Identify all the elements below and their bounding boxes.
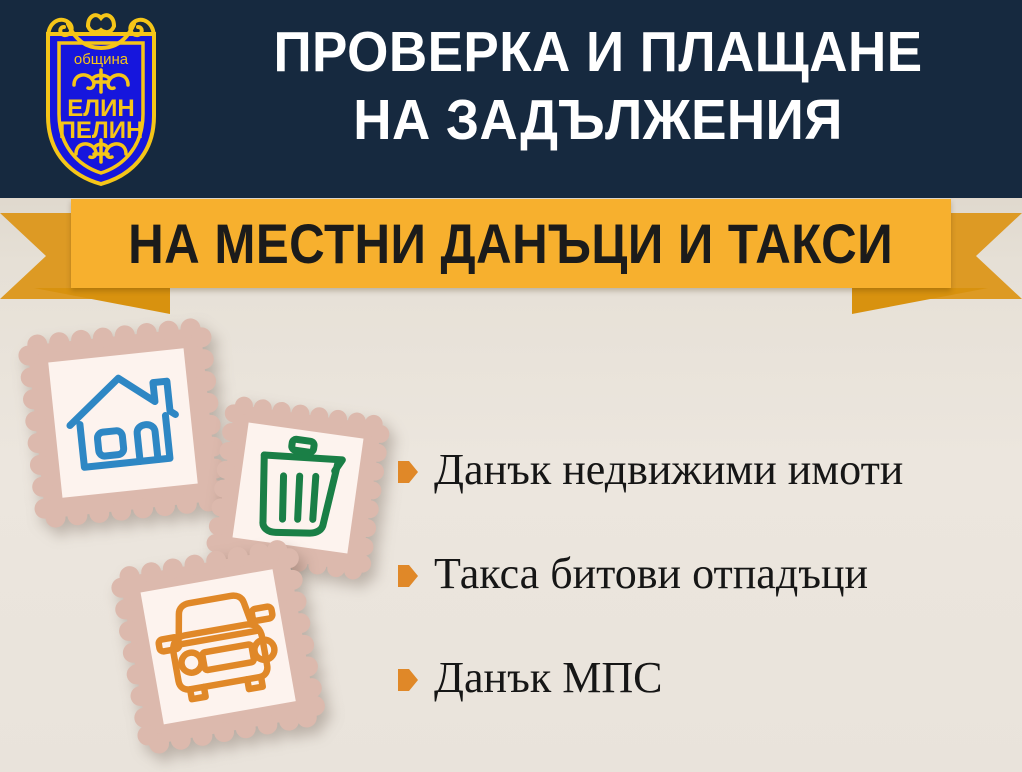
logo-text-obshtina: община <box>74 51 129 68</box>
stamp-card-car <box>105 534 330 759</box>
list-item[interactable]: Данък МПС <box>398 626 1016 730</box>
ribbon-banner: НА МЕСТНИ ДАНЪЦИ И ТАКСИ <box>0 199 1022 311</box>
arrow-bullet-icon <box>398 459 418 485</box>
coat-of-arms-icon: община ЕЛИН ПЕЛИН <box>26 8 176 190</box>
list-item[interactable]: Такса битови отпадъци <box>398 522 1016 626</box>
title-line-2: НА ЗАДЪЛЖЕНИЯ <box>215 86 981 154</box>
municipality-logo: община ЕЛИН ПЕЛИН <box>26 8 176 190</box>
arrow-bullet-icon <box>398 667 418 693</box>
list-item-label: Данък недвижими имоти <box>434 446 903 494</box>
logo-text-pelin: ПЕЛИН <box>59 117 144 144</box>
title-line-1: ПРОВЕРКА И ПЛАЩАНЕ <box>215 18 981 86</box>
arrow-bullet-icon <box>398 563 418 589</box>
ribbon-band: НА МЕСТНИ ДАНЪЦИ И ТАКСИ <box>71 199 951 288</box>
page-title: ПРОВЕРКА И ПЛАЩАНЕ НА ЗАДЪЛЖЕНИЯ <box>186 18 1010 154</box>
list-item-label: Данък МПС <box>434 654 662 702</box>
poster-canvas: община ЕЛИН ПЕЛИН ПРОВЕРКА И ПЛАЩАНЕ НА … <box>0 0 1022 772</box>
ribbon-fold-right <box>852 288 988 314</box>
header-bar: община ЕЛИН ПЕЛИН ПРОВЕРКА И ПЛАЩАНЕ НА … <box>0 0 1022 198</box>
list-item-label: Такса битови отпадъци <box>434 550 868 598</box>
tax-type-list: Данък недвижими имоти Такса битови отпад… <box>398 418 1016 730</box>
ribbon-label: НА МЕСТНИ ДАНЪЦИ И ТАКСИ <box>129 216 894 272</box>
stamp-card-group <box>0 300 420 772</box>
list-item[interactable]: Данък недвижими имоти <box>398 418 1016 522</box>
ribbon-fold-left <box>34 288 170 314</box>
car-stamp-icon <box>105 534 330 759</box>
